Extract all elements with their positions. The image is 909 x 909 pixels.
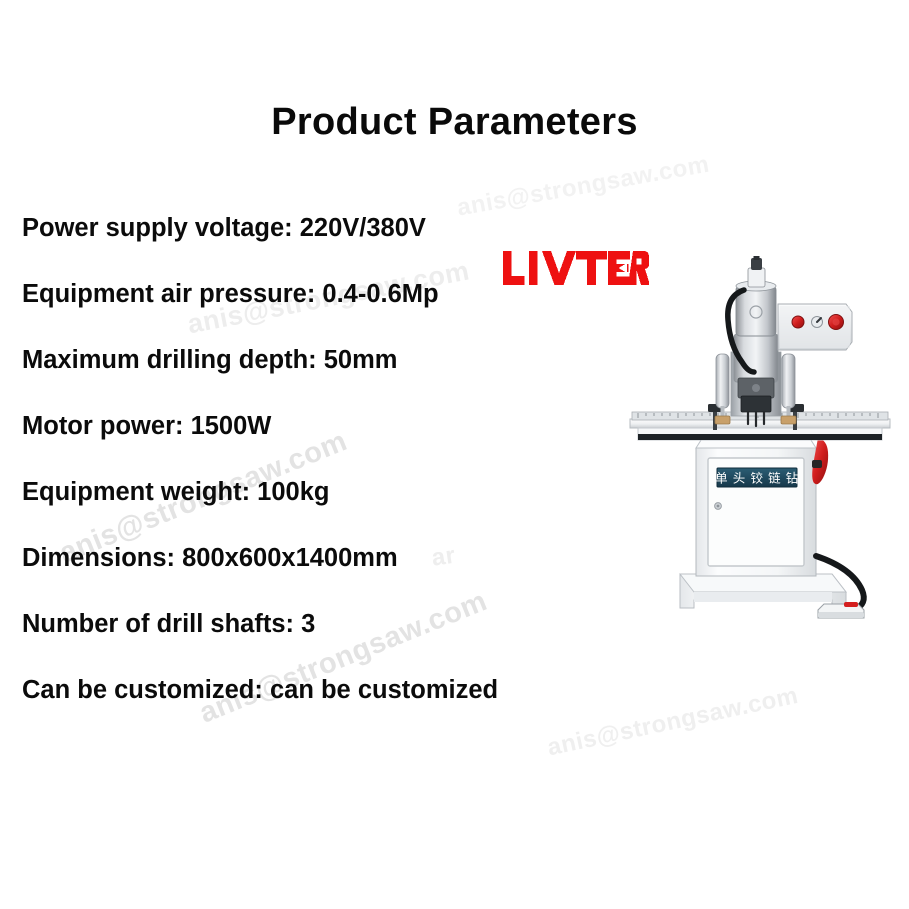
spec-item-maximum-drilling-depth: Maximum drilling depth: 50mm: [22, 348, 642, 414]
page-title: Product Parameters: [0, 101, 909, 144]
spec-item-motor-power: Motor power: 1500W: [22, 414, 642, 480]
spec-item-number-of-drill-shafts: Number of drill shafts: 3: [22, 612, 642, 678]
spec-item-equipment-weight: Equipment weight: 100kg: [22, 480, 642, 546]
start-button: [792, 316, 804, 328]
watermark-text: anis@strongsaw.com: [455, 151, 712, 223]
drill-head-assembly: [728, 256, 781, 426]
livter-brand-logo: [501, 249, 649, 287]
control-panel: [778, 304, 852, 350]
spec-item-dimensions: Dimensions: 800x600x1400mm: [22, 546, 642, 612]
product-photo-hinge-drilling-machine: 单 头 铰 链 钻: [612, 256, 908, 626]
spec-item-equipment-air-pressure: Equipment air pressure: 0.4-0.6Mp: [22, 282, 642, 348]
product-parameters-page: anis@strongsaw.com anis@strongsaw.com an…: [0, 0, 909, 909]
spec-item-can-be-customized: Can be customized: can be customized: [22, 678, 642, 744]
spec-list: Power supply voltage: 220V/380V Equipmen…: [22, 216, 642, 744]
machine-cabinet: 单 头 铰 链 钻: [696, 426, 816, 576]
machine-base-plinth: [680, 574, 846, 608]
selector-knob: [812, 317, 823, 328]
cabinet-nameplate-label: 单 头 铰 链 钻: [715, 471, 799, 486]
foot-pedal: [818, 602, 864, 618]
